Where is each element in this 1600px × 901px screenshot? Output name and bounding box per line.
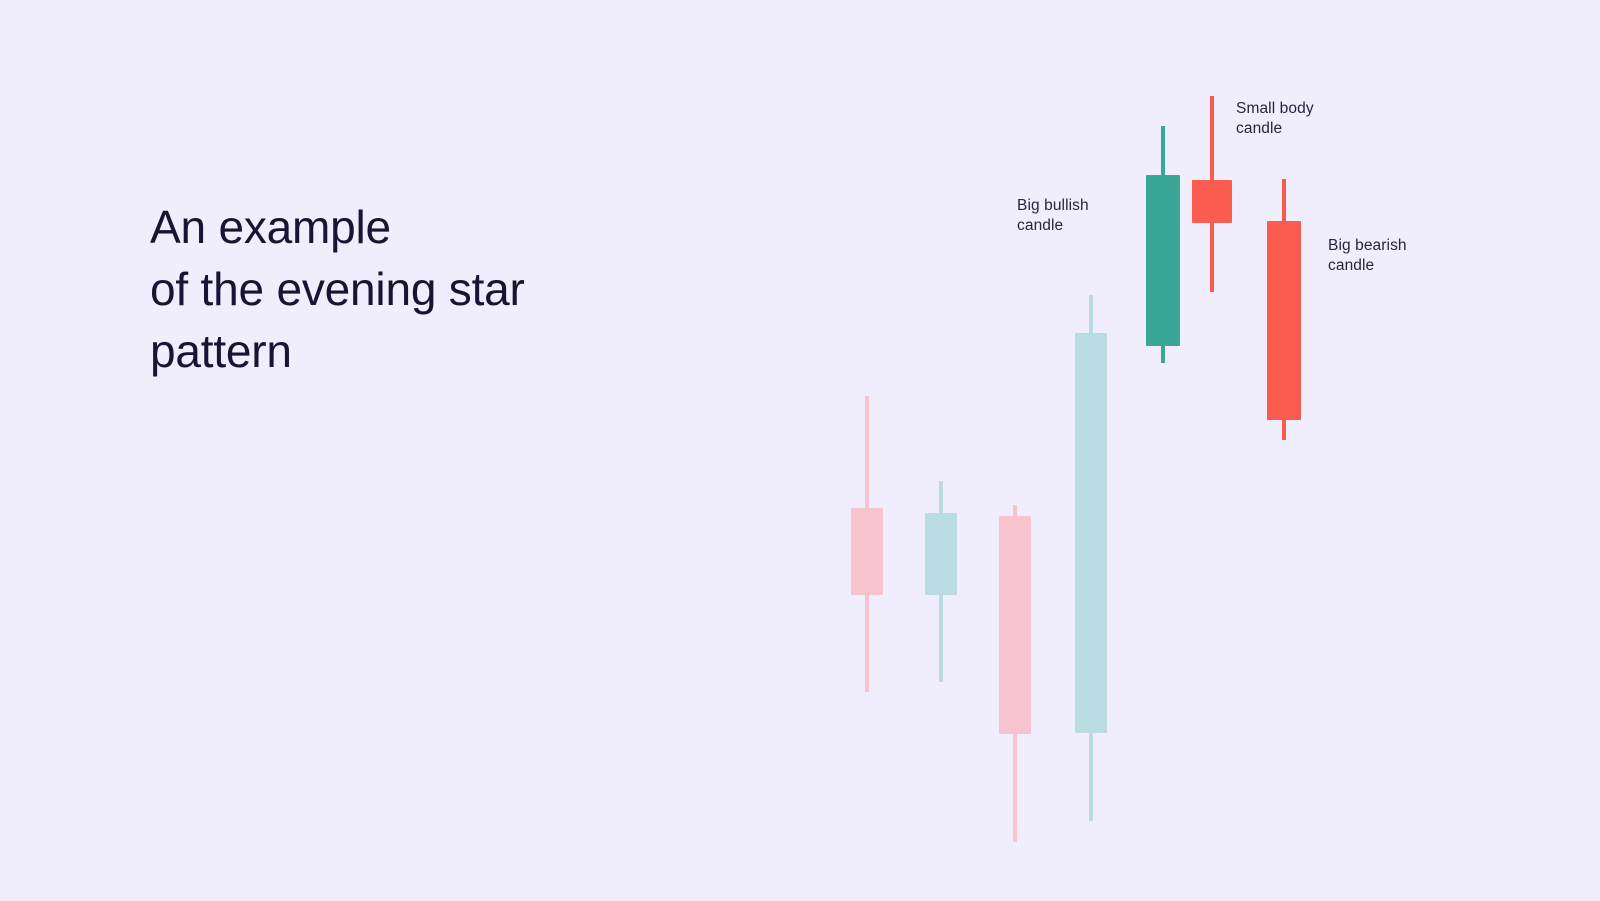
candlestick-body-1 (851, 508, 883, 595)
annotation-big-bullish-candle: Big bullish candle (1017, 196, 1089, 236)
annotation-big-bearish-candle: Big bearish candle (1328, 236, 1407, 276)
annotation-small-body-candle: Small body candle (1236, 99, 1314, 139)
candlestick-body-2 (925, 513, 957, 595)
candlestick-body-3 (999, 516, 1031, 734)
candlestick-body-5 (1146, 175, 1180, 346)
candlestick-body-7 (1267, 221, 1301, 420)
slide-canvas: An example of the evening star pattern B… (0, 0, 1600, 901)
candlestick-body-6 (1192, 180, 1232, 223)
candlestick-chart (0, 0, 1600, 901)
candlestick-body-4 (1075, 333, 1107, 733)
